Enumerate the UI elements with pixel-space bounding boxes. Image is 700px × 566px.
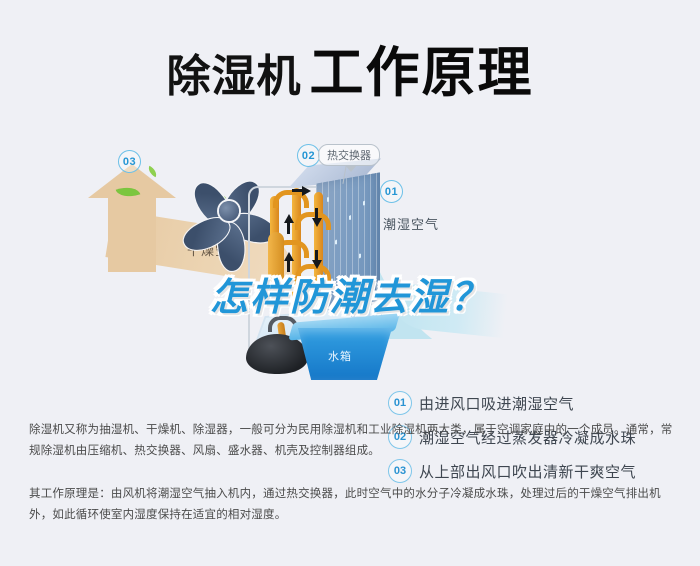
page-title-part2: 工作原理 — [310, 43, 534, 103]
heat-exchanger-callout: 热交换器 — [318, 144, 380, 166]
flow-arrow-stem — [287, 222, 290, 234]
badge-02: 02 — [297, 144, 320, 167]
flow-arrow-stem — [315, 208, 318, 220]
dry-air-arrow-stem — [108, 190, 156, 272]
badge-01: 01 — [380, 180, 403, 203]
legend-number: 03 — [388, 459, 412, 483]
legend-number: 01 — [388, 391, 412, 415]
fan-hub — [219, 201, 239, 221]
humid-air-label: 潮湿空气 — [383, 214, 439, 233]
list-item: 01 由进风口吸进潮湿空气 — [388, 386, 688, 420]
body-paragraph-2: 其工作原理是：由风机将潮湿空气抽入机内，通过热交换器，此时空气中的水分子冷凝成水… — [29, 484, 674, 526]
compressor — [246, 334, 308, 374]
badge-03: 03 — [118, 150, 141, 173]
flow-arrow-stem — [315, 250, 318, 262]
legend-label: 由进风口吸进潮湿空气 — [419, 393, 574, 414]
legend-label: 从上部出风口吹出清新干爽空气 — [419, 461, 636, 482]
infographic-page: 除湿机工作原理 干燥空气 — [0, 0, 700, 566]
page-title: 除湿机工作原理 — [0, 28, 700, 107]
overlay-headline: 怎样防潮去湿？ — [0, 266, 700, 321]
flow-arrow-stem — [292, 189, 304, 192]
water-tank-label: 水箱 — [328, 348, 352, 364]
body-paragraph-1: 除湿机又称为抽湿机、干燥机、除湿器，一般可分为民用除湿机和工业除湿机两大类，属于… — [29, 420, 674, 462]
page-title-part1: 除湿机 — [167, 52, 302, 101]
